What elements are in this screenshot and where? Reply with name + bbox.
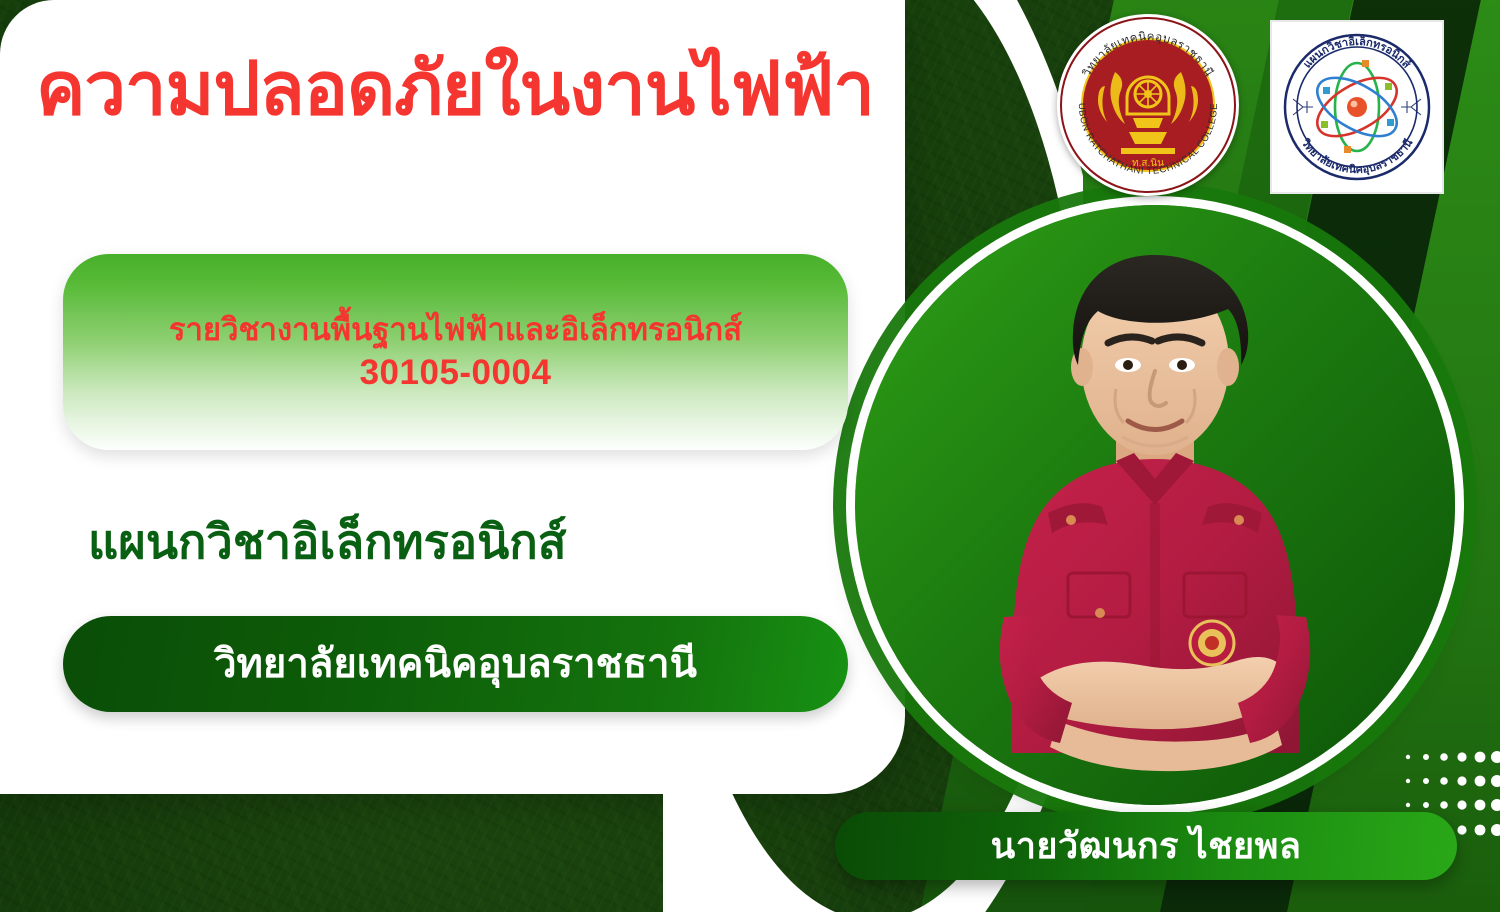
college-seal-icon: ท.ส.นิน วิทยาลัยเทคนิคอุบลราชธานี UBON R… — [1057, 14, 1239, 196]
department-label: แผนกวิชาอิเล็กทรอนิกส์ — [88, 518, 566, 565]
page-title: ความปลอดภัยในงานไฟฟ้า — [36, 52, 1016, 126]
course-code: 30105-0004 — [360, 351, 552, 395]
college-name-pill: วิทยาลัยเทคนิคอุบลราชธานี — [63, 616, 848, 712]
presenter-name-bar: นายวัฒนกร ไชยพล — [835, 812, 1457, 880]
presenter-portrait — [855, 205, 1455, 805]
presenter-photo — [940, 213, 1370, 853]
portrait-photo-clip — [869, 219, 1441, 791]
poster-canvas: ความปลอดภัยในงานไฟฟ้า — [0, 0, 1500, 912]
atom-icon: แผนกวิชาอิเล็กทรอนิกส์ วิทยาลัยเทคนิคอุบ… — [1277, 27, 1437, 187]
course-subject-label: รายวิชางานพื้นฐานไฟฟ้าและอิเล็กทรอนิกส์ — [169, 309, 742, 351]
presenter-name: นายวัฒนกร ไชยพล — [991, 828, 1302, 864]
college-seal-logo: ท.ส.นิน วิทยาลัยเทคนิคอุบลราชธานี UBON R… — [1057, 14, 1239, 196]
course-info-pill: รายวิชางานพื้นฐานไฟฟ้าและอิเล็กทรอนิกส์ … — [63, 254, 848, 450]
electronics-department-logo: แผนกวิชาอิเล็กทรอนิกส์ วิทยาลัยเทคนิคอุบ… — [1270, 20, 1444, 194]
college-label: วิทยาลัยเทคนิคอุบลราชธานี — [214, 644, 697, 684]
